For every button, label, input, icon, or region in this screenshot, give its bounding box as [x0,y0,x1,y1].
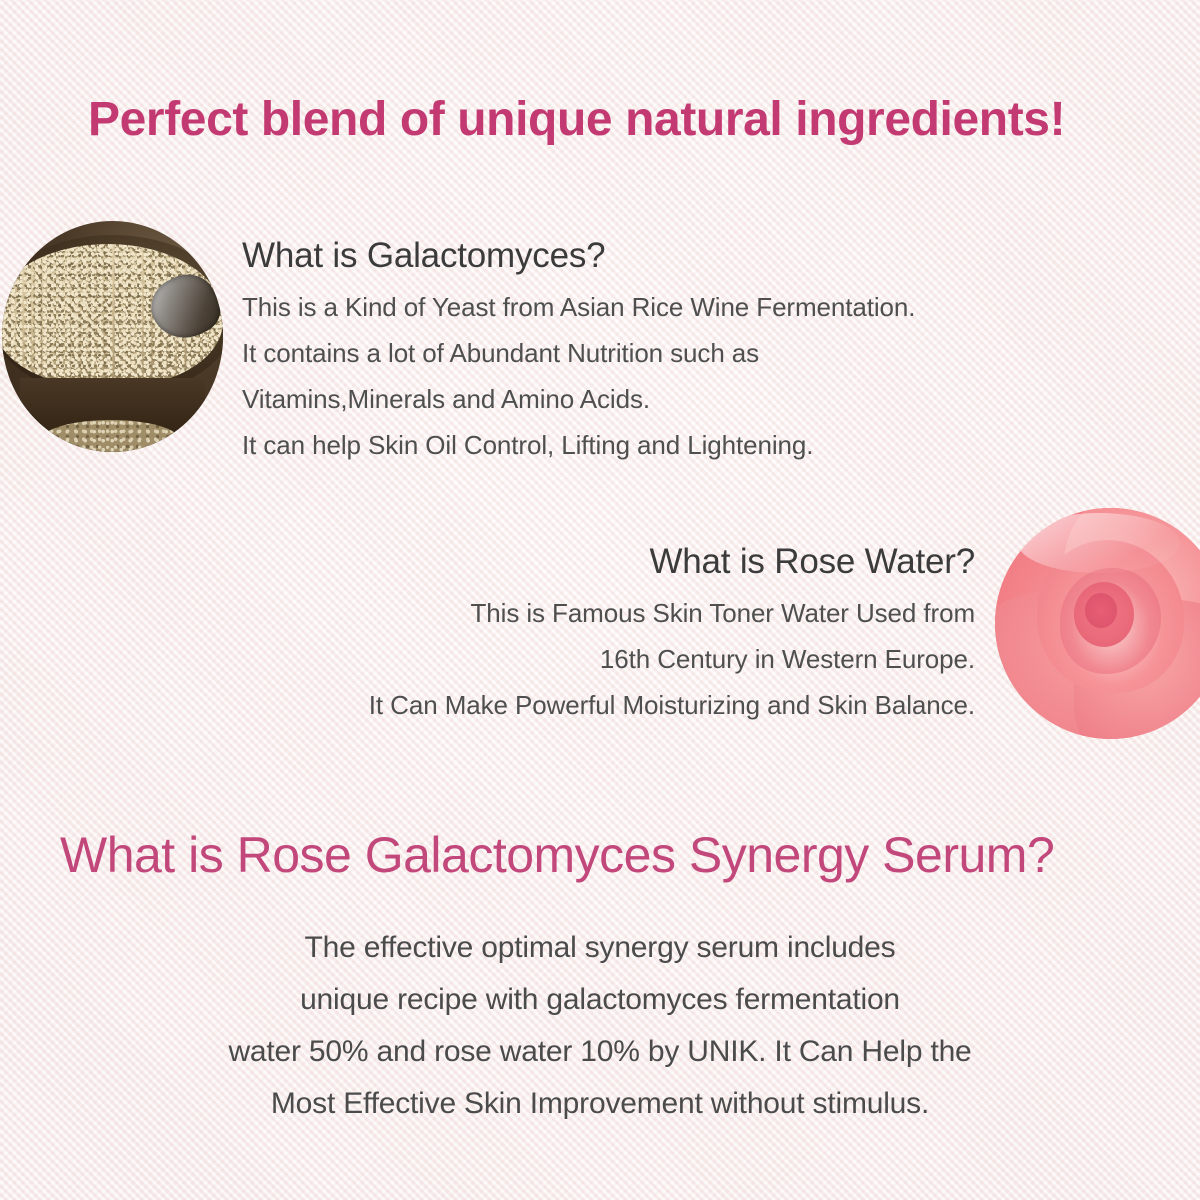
rose-water-heading: What is Rose Water? [369,542,975,582]
galactomyces-heading: What is Galactomyces? [242,236,915,276]
serum-line-3: water 50% and rose water 10% by UNIK. It… [0,1026,1200,1078]
rose-highlight [1018,513,1180,573]
serum-line-2: unique recipe with galactomyces fermenta… [0,974,1200,1026]
serum-line-1: The effective optimal synergy serum incl… [0,922,1200,974]
serum-section-heading: What is Rose Galactomyces Synergy Serum? [60,826,1054,884]
serum-description-block: The effective optimal synergy serum incl… [0,922,1200,1130]
spilled-granules [42,420,179,452]
serum-line-4: Most Effective Skin Improvement without … [0,1078,1200,1130]
galactomyces-line-2: It contains a lot of Abundant Nutrition … [242,330,915,376]
rose-water-line-1: This is Famous Skin Toner Water Used fro… [369,590,975,636]
rose-water-line-2: 16th Century in Western Europe. [369,636,975,682]
yeast-granules-in-wooden-bowl-photo [2,221,223,452]
promotional-banner: Perfect blend of unique natural ingredie… [0,0,1200,1200]
rose-water-line-3: It Can Make Powerful Moisturizing and Sk… [369,682,975,728]
galactomyces-line-3: Vitamins,Minerals and Amino Acids. [242,376,915,422]
page-title: Perfect blend of unique natural ingredie… [88,92,1065,147]
pink-rose-flower-photo [995,508,1200,739]
rose-water-text-block: What is Rose Water? This is Famous Skin … [369,542,975,728]
galactomyces-line-4: It can help Skin Oil Control, Lifting an… [242,422,915,468]
galactomyces-line-1: This is a Kind of Yeast from Asian Rice … [242,284,915,330]
galactomyces-text-block: What is Galactomyces? This is a Kind of … [242,236,915,468]
